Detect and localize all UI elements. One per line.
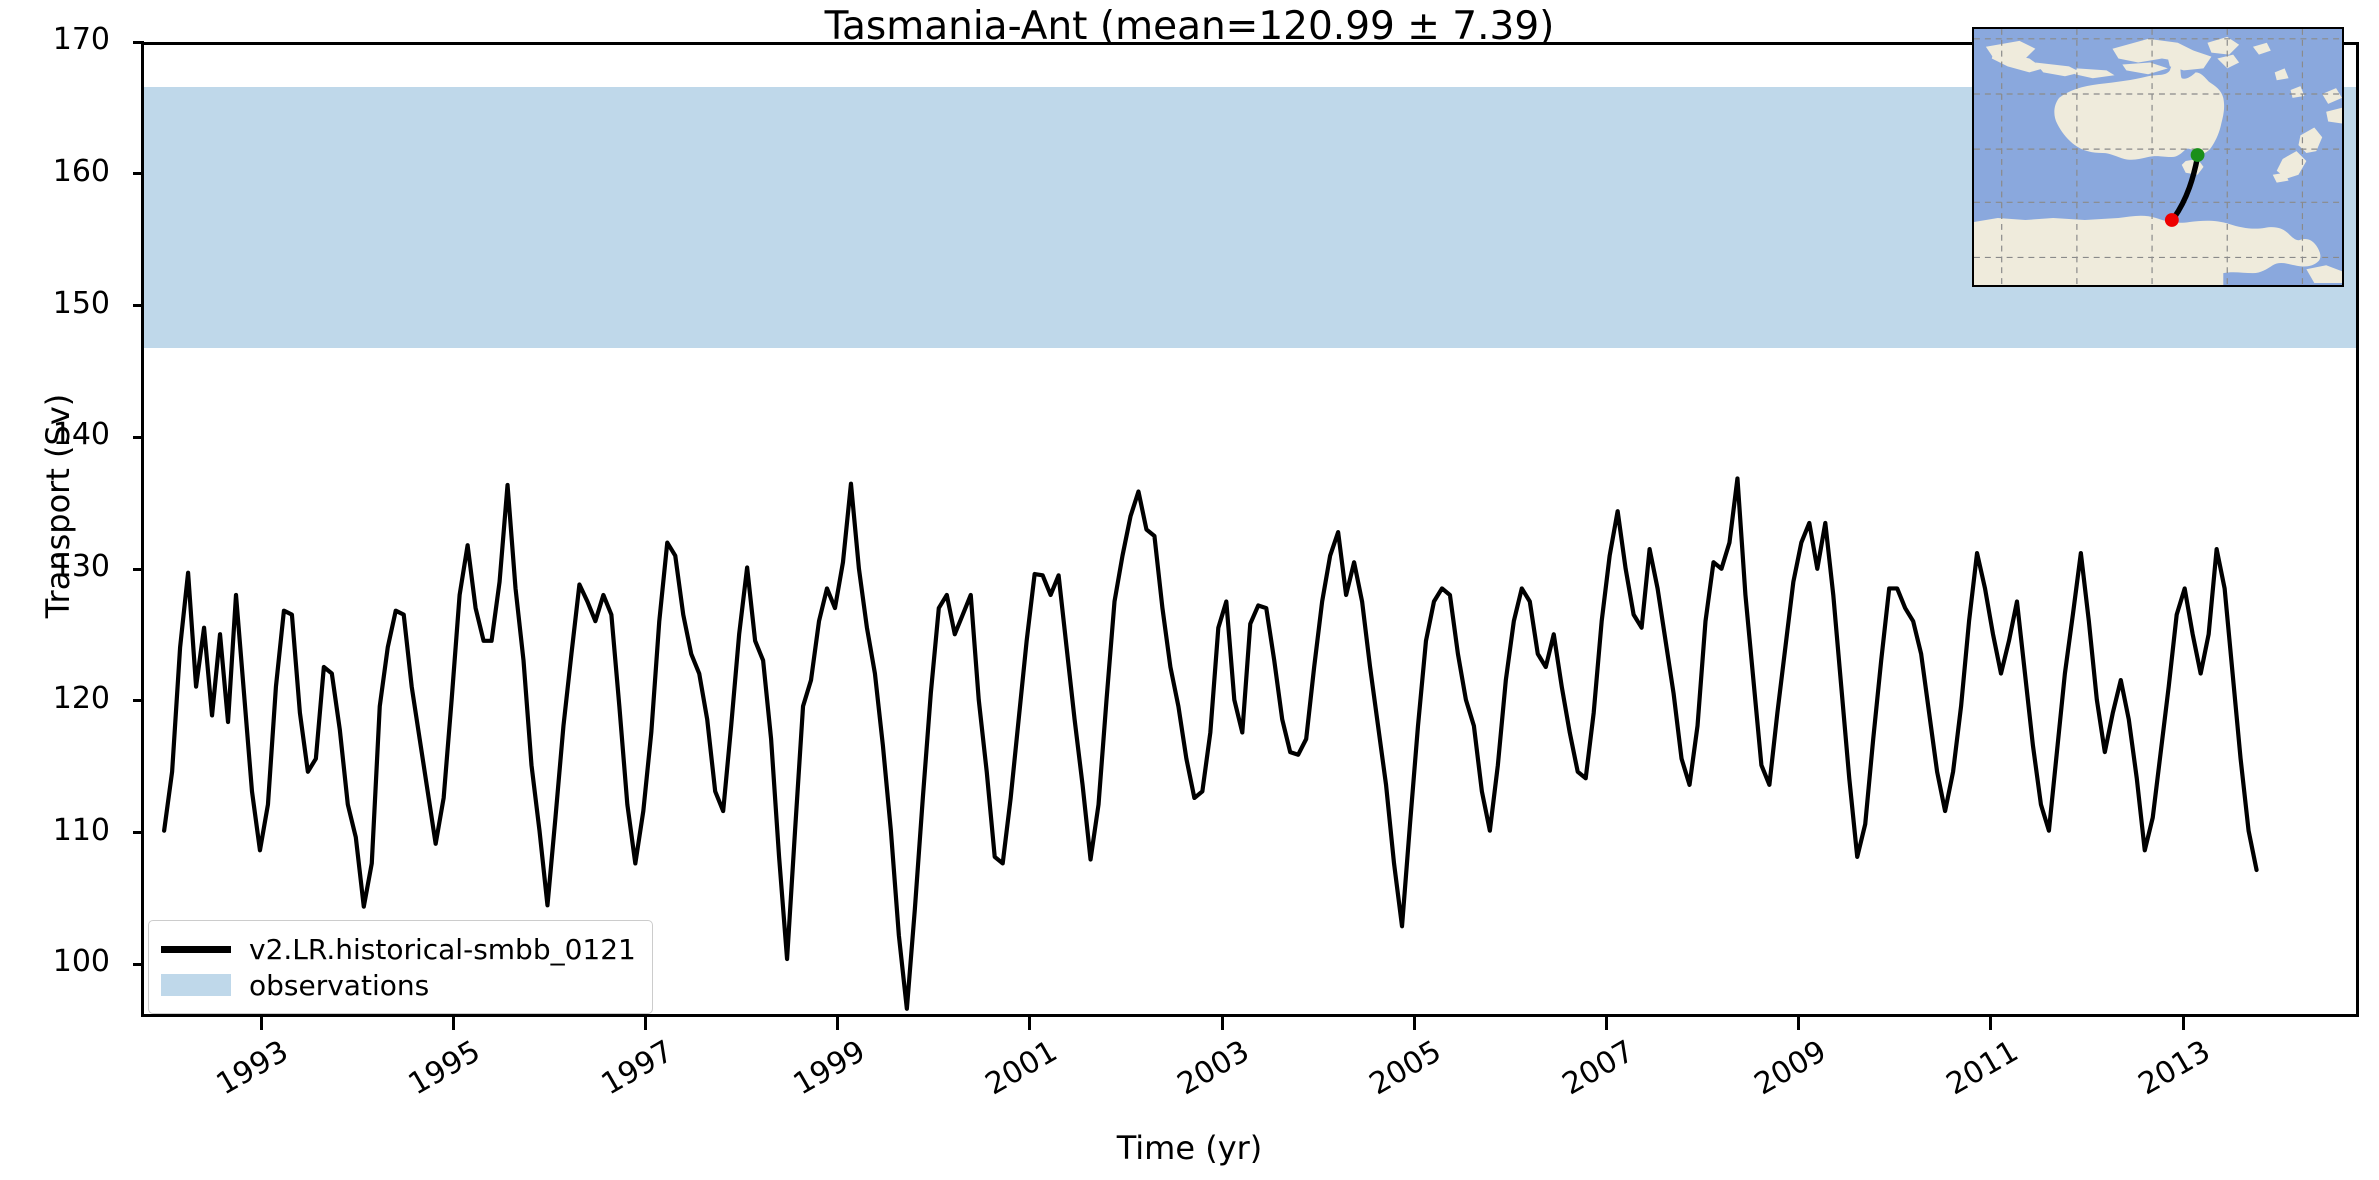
- tasmania-endpoint-marker: [2191, 148, 2205, 162]
- x-tick-mark: [1797, 1017, 1800, 1030]
- x-tick-label: 2001: [980, 1036, 1060, 1102]
- legend-item-model[interactable]: v2.LR.historical-smbb_0121: [161, 931, 636, 967]
- y-tick-label: 170: [0, 22, 110, 57]
- x-tick-mark: [836, 1017, 839, 1030]
- x-tick-label: 1999: [787, 1036, 867, 1102]
- y-tick-label: 150: [0, 286, 110, 321]
- legend[interactable]: v2.LR.historical-smbb_0121 observations: [148, 920, 653, 1014]
- x-tick-label: 2003: [1172, 1036, 1252, 1102]
- x-tick-label: 2013: [2133, 1036, 2213, 1102]
- x-tick-label: 2011: [1941, 1036, 2021, 1102]
- transect-location-map[interactable]: [1972, 27, 2344, 287]
- x-tick-mark: [644, 1017, 647, 1030]
- y-tick-label: 120: [0, 681, 110, 716]
- figure-root: Tasmania-Ant (mean=120.99 ± 7.39) Transp…: [0, 0, 2379, 1180]
- x-tick-mark: [452, 1017, 455, 1030]
- y-tick-label: 110: [0, 813, 110, 848]
- x-tick-label: 1997: [595, 1036, 675, 1102]
- y-tick-label: 100: [0, 944, 110, 979]
- x-tick-mark: [1028, 1017, 1031, 1030]
- x-tick-mark: [1413, 1017, 1416, 1030]
- x-tick-mark: [2182, 1017, 2185, 1030]
- x-tick-mark: [260, 1017, 263, 1030]
- legend-item-observations[interactable]: observations: [161, 967, 636, 1003]
- legend-line-swatch-icon: [161, 933, 231, 965]
- legend-label-observations: observations: [249, 969, 429, 1002]
- y-tick-label: 160: [0, 154, 110, 189]
- antarctica-endpoint-marker: [2165, 213, 2179, 227]
- x-tick-label: 2007: [1556, 1036, 1636, 1102]
- legend-patch-swatch-icon: [161, 969, 231, 1001]
- x-tick-label: 2009: [1748, 1036, 1828, 1102]
- x-tick-mark: [1989, 1017, 1992, 1030]
- x-tick-label: 1995: [403, 1036, 483, 1102]
- x-axis-label: Time (yr): [0, 1129, 2379, 1167]
- legend-label-model: v2.LR.historical-smbb_0121: [249, 933, 636, 966]
- x-tick-label: 1993: [211, 1036, 291, 1102]
- y-tick-label: 140: [0, 417, 110, 452]
- x-tick-label: 2005: [1364, 1036, 1444, 1102]
- map-svg: [1974, 29, 2342, 285]
- x-tick-mark: [1221, 1017, 1224, 1030]
- y-tick-label: 130: [0, 549, 110, 584]
- x-tick-mark: [1605, 1017, 1608, 1030]
